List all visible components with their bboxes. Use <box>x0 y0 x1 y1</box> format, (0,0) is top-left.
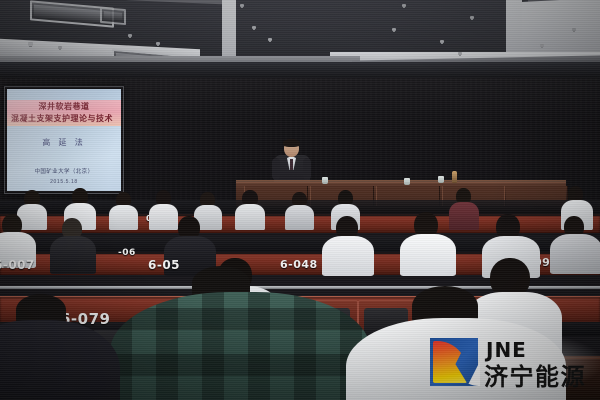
watermark-logo: JNE 济宁能源 <box>430 336 596 392</box>
seat-number-05: 6-05 <box>148 258 180 272</box>
sprinkler-head <box>268 38 272 41</box>
projected-slide: 深井软岩巷道 混凝土支架支护理论与技术 高 延 法 中国矿业大学（北京） 201… <box>7 89 121 191</box>
speaker-hair <box>283 139 300 147</box>
projection-screen: 深井软岩巷道 混凝土支架支护理论与技术 高 延 法 中国矿业大学（北京） 201… <box>4 86 124 194</box>
water-cup <box>404 178 410 185</box>
sprinkler-head <box>156 42 160 45</box>
sprinkler-head <box>440 40 444 43</box>
sprinkler-head <box>458 52 462 55</box>
speaker-arm-right <box>303 158 311 180</box>
jne-logo-mark <box>430 338 478 386</box>
seat-number-007: 6-007 <box>0 258 35 272</box>
logo-brand-chinese: 济宁能源 <box>484 357 586 392</box>
sprinkler-head <box>402 4 406 7</box>
sprinkler-head <box>28 42 33 46</box>
sprinkler-head <box>572 28 576 31</box>
water-cup <box>438 176 444 183</box>
seat-number-048: 6-048 <box>280 258 318 271</box>
flame-icon <box>433 341 467 383</box>
sprinkler-head <box>240 4 244 7</box>
sprinkler-head <box>392 28 396 31</box>
screen-glare <box>7 89 121 191</box>
sprinkler-head <box>58 46 62 49</box>
water-cup <box>322 177 328 184</box>
ceiling-light-fixture <box>100 7 126 25</box>
wall-beam <box>0 62 600 78</box>
water-bottle <box>452 171 457 183</box>
plaid-shirt <box>110 292 370 400</box>
sprinkler-head <box>252 26 256 29</box>
speaker-tie <box>290 159 293 170</box>
sprinkler-head <box>470 16 474 19</box>
sprinkler-head <box>128 34 132 37</box>
seat-number-mid-partial: -06 <box>118 248 136 258</box>
lecture-hall-photo: 深井软岩巷道 混凝土支架支护理论与技术 高 延 法 中国矿业大学（北京） 201… <box>0 0 600 400</box>
speaker-arm-left <box>272 158 280 180</box>
sprinkler-head <box>540 44 544 47</box>
